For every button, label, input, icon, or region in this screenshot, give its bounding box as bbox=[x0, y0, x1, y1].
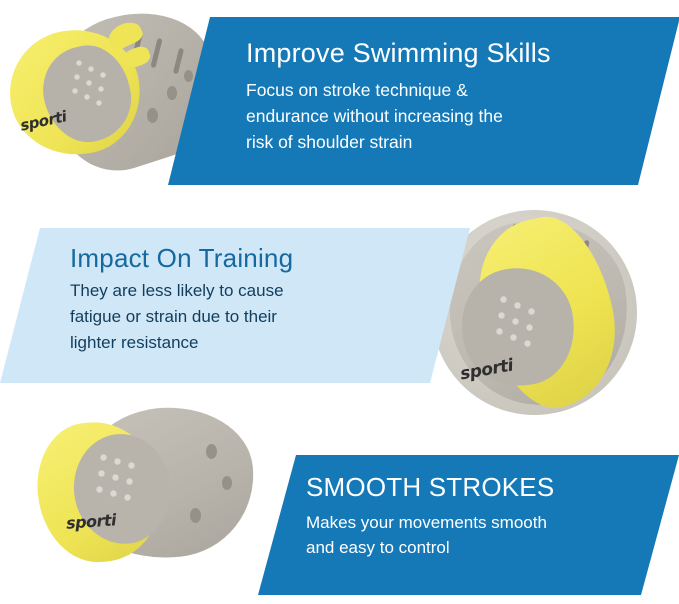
panel-headline: Improve Swimming Skills bbox=[246, 39, 640, 69]
paddle-illustration: sporti bbox=[30, 400, 260, 590]
paddle-hole bbox=[74, 74, 80, 80]
paddle-hole bbox=[110, 490, 117, 497]
paddle-hole bbox=[86, 80, 92, 86]
panel-body-line-1: Makes your movements smooth bbox=[306, 510, 649, 536]
brand-label: sporti bbox=[65, 510, 116, 532]
paddle-photo-bottom-left: sporti bbox=[30, 400, 260, 590]
paddle-hole bbox=[96, 486, 103, 493]
infographic-canvas: sporti sporti bbox=[0, 0, 679, 604]
paddle-dot bbox=[147, 108, 158, 123]
paddle-hole bbox=[84, 94, 90, 100]
paddle-hole bbox=[100, 72, 106, 78]
paddle-dot bbox=[184, 70, 193, 82]
paddle-dot bbox=[190, 508, 201, 523]
paddle-dot bbox=[222, 476, 232, 490]
panel-impact-on-training: Impact On Training They are less likely … bbox=[0, 228, 470, 383]
paddle-hole bbox=[100, 454, 107, 461]
paddle-hole bbox=[112, 474, 119, 481]
paddle-hole bbox=[496, 328, 503, 335]
panel-body-line-3: lighter resistance bbox=[70, 330, 430, 356]
paddle-hole bbox=[98, 470, 105, 477]
paddle-hole bbox=[96, 100, 102, 106]
paddle-hole bbox=[88, 66, 94, 72]
paddle-hole bbox=[124, 494, 131, 501]
panel-headline: Impact On Training bbox=[70, 244, 430, 273]
panel-headline: SMOOTH STROKES bbox=[306, 473, 649, 502]
paddle-hole bbox=[500, 296, 507, 303]
panel-body-line-1: Focus on stroke technique & bbox=[246, 77, 640, 103]
panel-body-line-3: risk of shoulder strain bbox=[246, 129, 640, 155]
paddle-hole bbox=[514, 302, 521, 309]
paddle-hole bbox=[498, 312, 505, 319]
paddle-hole bbox=[98, 86, 104, 92]
panel-improve-swimming-skills: Improve Swimming Skills Focus on stroke … bbox=[168, 17, 679, 185]
paddle-hole bbox=[512, 318, 519, 325]
panel-body-line-1: They are less likely to cause bbox=[70, 278, 430, 304]
paddle-hole bbox=[114, 458, 121, 465]
paddle-hole bbox=[126, 478, 133, 485]
paddle-dot bbox=[167, 86, 177, 100]
paddle-hole bbox=[526, 324, 533, 331]
paddle-hole bbox=[128, 462, 135, 469]
paddle-hole bbox=[524, 340, 531, 347]
panel-body-line-2: endurance without increasing the bbox=[246, 103, 640, 129]
paddle-hole bbox=[76, 60, 82, 66]
panel-smooth-strokes: SMOOTH STROKES Makes your movements smoo… bbox=[258, 455, 679, 595]
paddle-hole bbox=[72, 88, 78, 94]
paddle-hole bbox=[510, 334, 517, 341]
panel-body-line-2: fatigue or strain due to their bbox=[70, 304, 430, 330]
panel-body-line-2: and easy to control bbox=[306, 535, 649, 561]
paddle-dot bbox=[206, 444, 217, 459]
paddle-hole bbox=[528, 308, 535, 315]
